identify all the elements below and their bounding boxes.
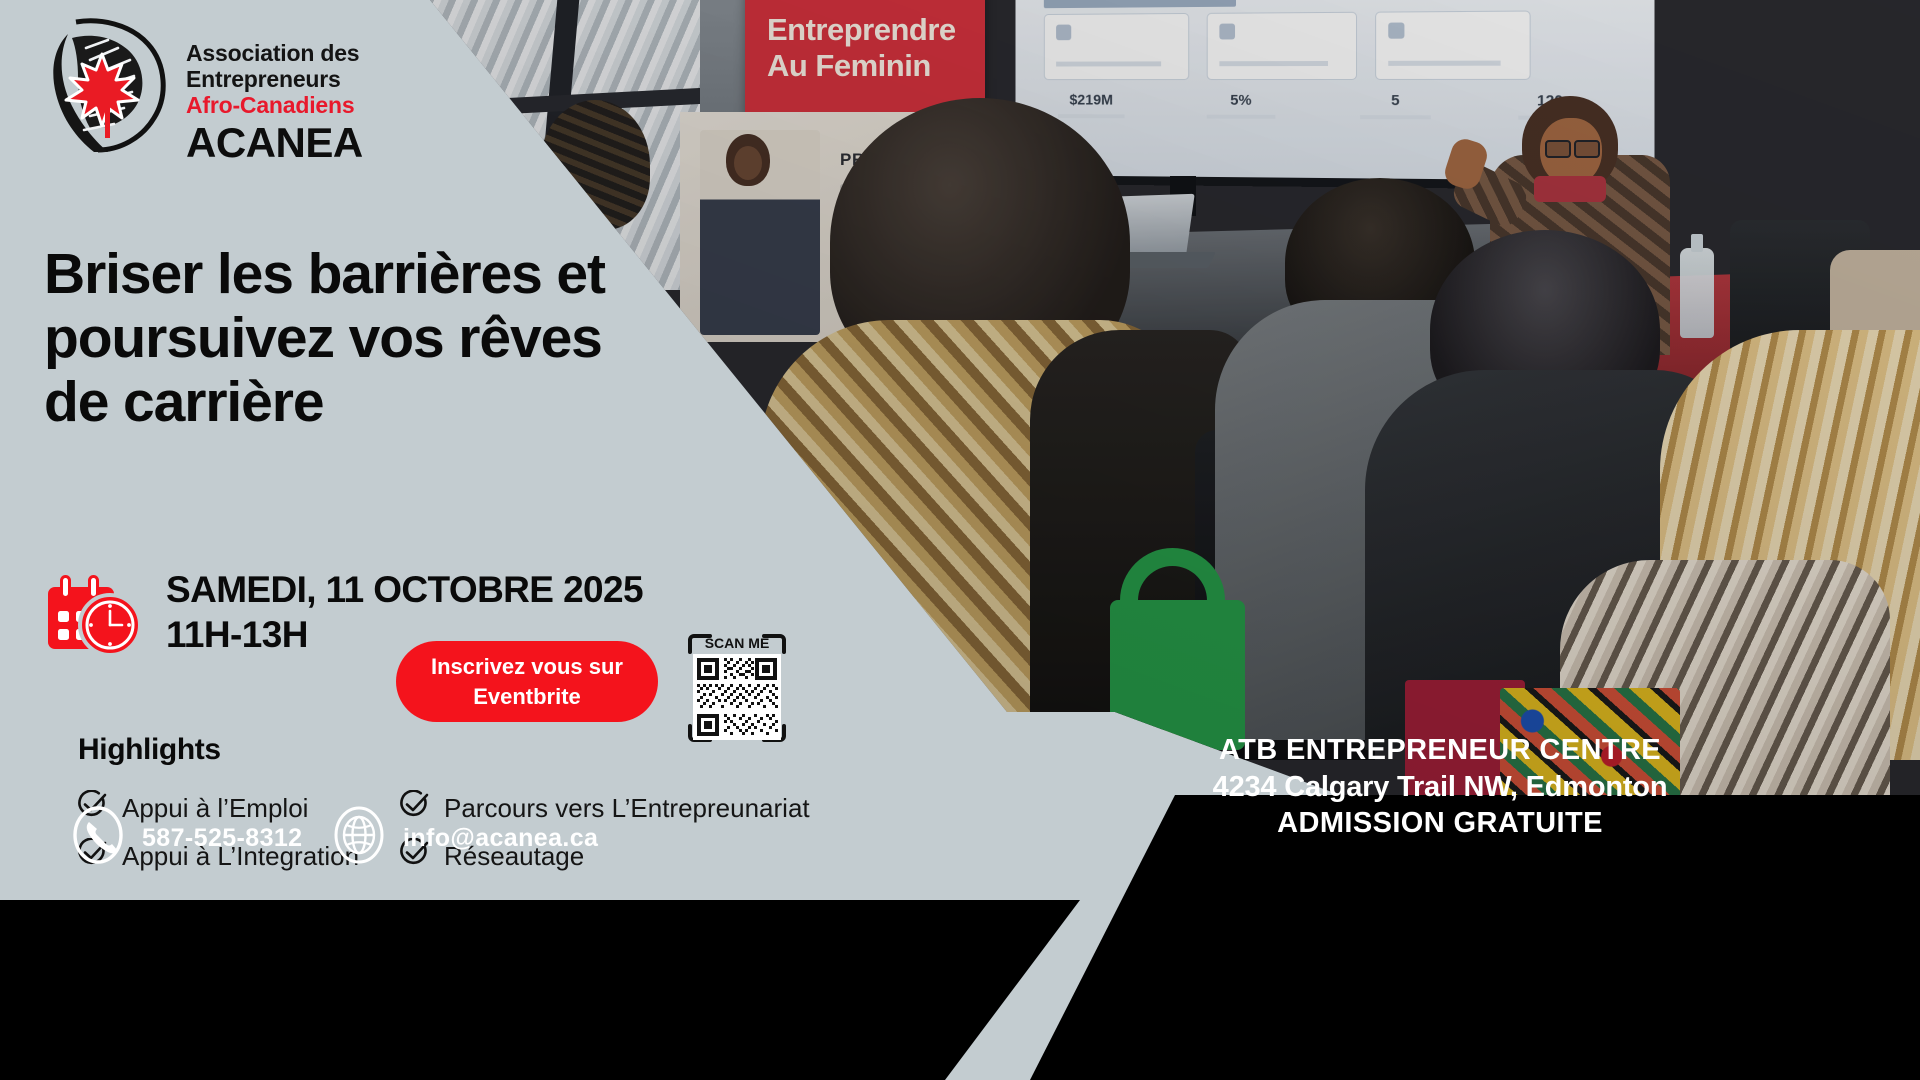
contact-bar-background bbox=[0, 900, 1080, 1080]
slide-card-line bbox=[1219, 61, 1328, 66]
globe-icon bbox=[333, 805, 385, 872]
logo-line-3: Afro-Canadiens bbox=[186, 92, 406, 118]
slide-stat: 5% bbox=[1182, 92, 1300, 119]
email-address: info@acanea.ca bbox=[403, 824, 598, 853]
venue-name: ATB ENTREPRENEUR CENTRE bbox=[1000, 732, 1880, 769]
slide-card-icon bbox=[1219, 24, 1235, 40]
venue-address: 4234 Calgary Trail NW, Edmonton bbox=[1000, 769, 1880, 806]
slide-title-bar bbox=[1044, 0, 1236, 8]
slide-card bbox=[1207, 12, 1357, 80]
speaker-collar bbox=[1534, 176, 1606, 202]
water-bottle bbox=[1680, 248, 1714, 338]
slide-card-line bbox=[1056, 61, 1161, 66]
venue-details: ATB ENTREPRENEUR CENTRE 4234 Calgary Tra… bbox=[1000, 732, 1880, 842]
acanea-logo: Association des Entrepreneurs Afro-Canad… bbox=[38, 18, 398, 158]
banner-line-1: Entreprendre bbox=[767, 12, 956, 48]
green-handbag bbox=[1110, 600, 1245, 750]
africa-maple-leaf-logo-icon bbox=[38, 18, 178, 156]
slide-stat-line bbox=[1360, 115, 1431, 119]
contact-email[interactable]: info@acanea.ca bbox=[333, 805, 598, 872]
logo-line-2: Entrepreneurs bbox=[186, 66, 406, 92]
slide-card bbox=[1375, 11, 1531, 80]
slide-card bbox=[1044, 13, 1189, 80]
slide-stat-value: 5 bbox=[1335, 92, 1456, 109]
qr-code-block[interactable]: SCAN ME bbox=[684, 630, 790, 746]
attendee-hair-1 bbox=[540, 100, 650, 230]
contact-phone[interactable]: 587-525-8312 bbox=[72, 805, 303, 872]
banner-line-2: Au Feminin bbox=[767, 48, 931, 84]
slide-card-icon bbox=[1056, 25, 1071, 41]
eventbrite-register-button[interactable]: Inscrivez vous sur Eventbrite bbox=[396, 641, 658, 722]
phone-number: 587-525-8312 bbox=[142, 824, 303, 853]
speaker-glasses-right bbox=[1574, 140, 1600, 158]
logo-wordmark: Association des Entrepreneurs Afro-Canad… bbox=[186, 40, 406, 118]
slide-stat: 5 bbox=[1335, 92, 1456, 119]
speaker-glasses-left bbox=[1545, 140, 1571, 158]
phone-icon bbox=[72, 805, 124, 872]
slide-stat: $219M bbox=[1034, 92, 1148, 119]
slide-stat-line bbox=[1058, 114, 1125, 118]
page-title: Briser les barrières et poursuivez vos r… bbox=[44, 243, 664, 434]
entreprendre-au-feminin-banner: Entreprendre Au Feminin bbox=[745, 0, 985, 114]
highlights-title: Highlights bbox=[78, 733, 221, 767]
slide-stat-line bbox=[1207, 115, 1276, 119]
admission-notice: ADMISSION GRATUITE bbox=[1000, 805, 1880, 842]
poster-figure-face bbox=[734, 146, 762, 180]
slide-stat-value: 5% bbox=[1182, 92, 1300, 109]
slide-card-line bbox=[1388, 61, 1500, 66]
logo-line-1: Association des bbox=[186, 40, 406, 66]
slide-card-icon bbox=[1388, 23, 1404, 39]
event-date: SAMEDI, 11 OCTOBRE 2025 bbox=[166, 567, 726, 612]
calendar-clock-icon bbox=[46, 575, 142, 657]
logo-acronym: ACANEA bbox=[186, 122, 363, 164]
qr-caption: SCAN ME bbox=[705, 635, 770, 651]
event-poster: Entreprendre Au Feminin PROGRAMME $219M … bbox=[0, 0, 1920, 1080]
slide-stat-value: $219M bbox=[1034, 92, 1148, 109]
